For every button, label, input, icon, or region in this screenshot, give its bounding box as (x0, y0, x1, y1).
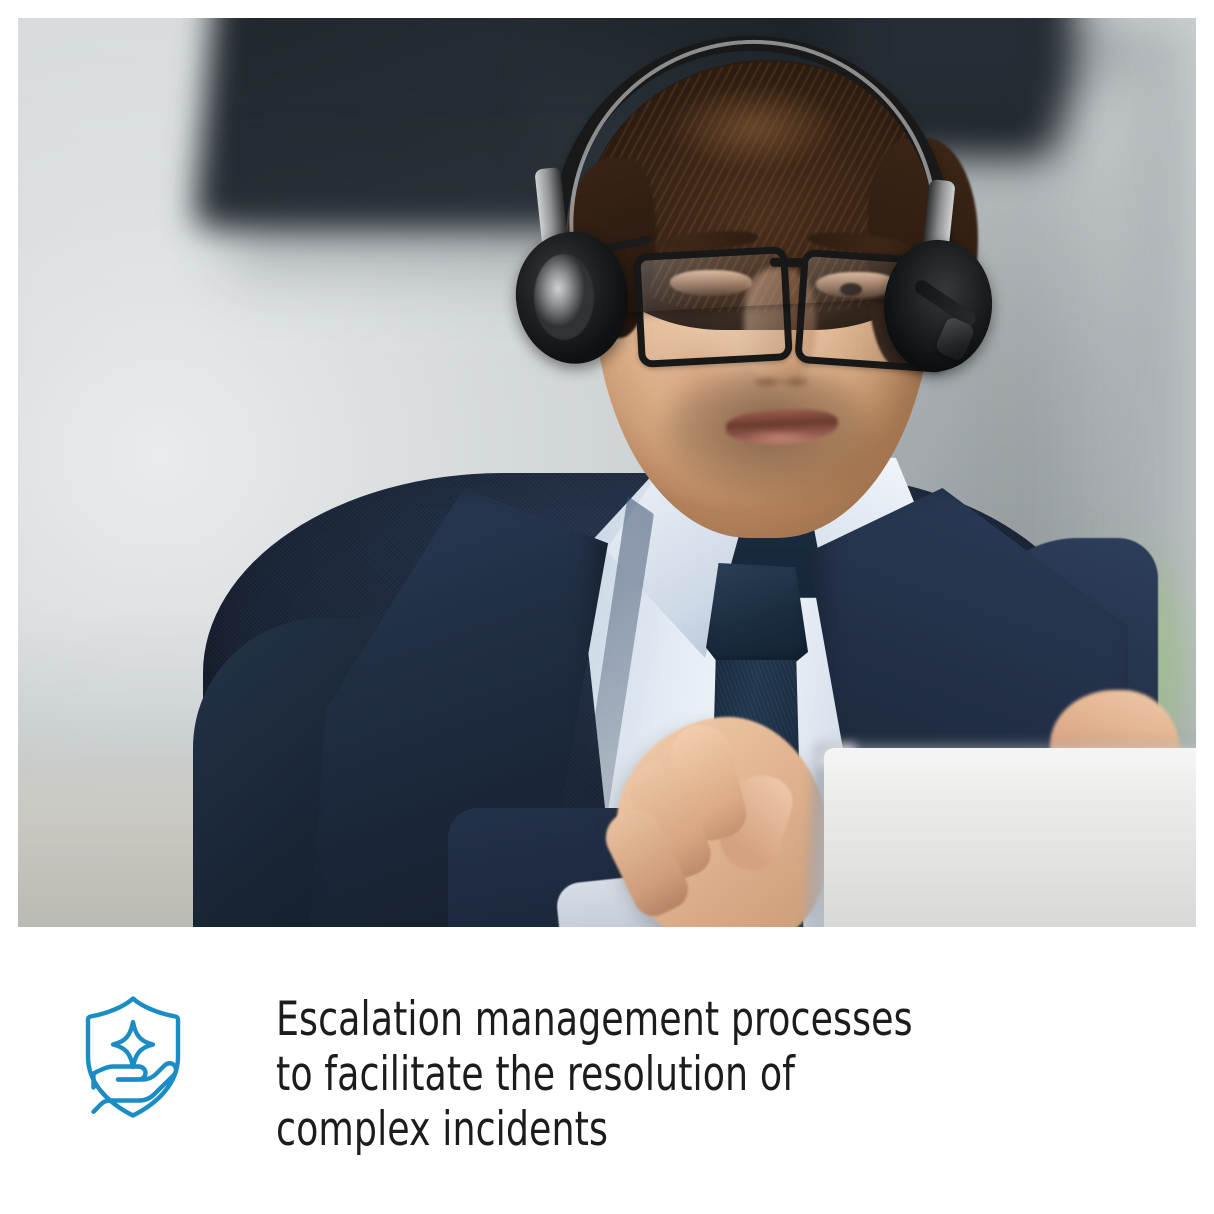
caption-row: Escalation management processes to facil… (80, 992, 1036, 1157)
headset-earcup-left-inner (534, 254, 594, 340)
caption-text: Escalation management processes to facil… (276, 992, 930, 1157)
tie-knot (704, 563, 808, 669)
laptop-top-edge (818, 740, 1196, 766)
hero-photo (18, 18, 1196, 927)
page-root: Escalation management processes to facil… (0, 0, 1214, 1214)
person (18, 18, 1196, 927)
shield-hand-sparkle-icon (80, 995, 186, 1119)
nostrils (754, 374, 808, 390)
headset-headband-highlight (560, 31, 940, 290)
laptop-lid (824, 748, 1196, 927)
caption-section: Escalation management processes to facil… (0, 930, 1214, 1214)
lower-lip-highlight (732, 432, 828, 448)
